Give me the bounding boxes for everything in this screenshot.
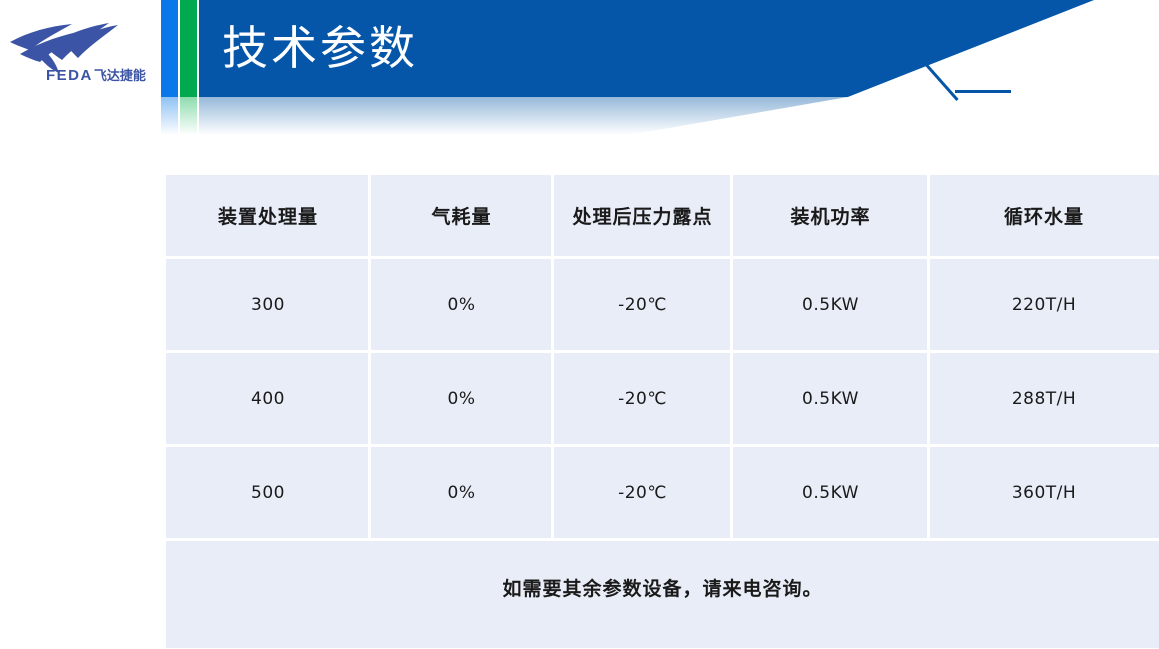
accent-bar-green-reflection [180, 97, 197, 135]
table-header-row: 装置处理量 气耗量 处理后压力露点 装机功率 循环水量 [166, 175, 1159, 256]
logo-wordmark-cn: 飞达捷能 [94, 68, 146, 83]
table-cell-power: 0.5KW [732, 447, 929, 538]
table-cell-capacity: 300 [166, 259, 370, 350]
accent-bar-green [180, 0, 197, 97]
table-cell-water-flow: 288T/H [929, 353, 1159, 444]
table-footer-row: 如需要其余参数设备，请来电咨询。 [166, 541, 1159, 648]
title-banner-reflection [199, 97, 1094, 135]
table-header-cell-1: 气耗量 [370, 175, 553, 256]
table-cell-water-flow: 220T/H [929, 259, 1159, 350]
table-row: 500 0% -20℃ 0.5KW 360T/H [166, 447, 1159, 538]
page-title: 技术参数 [222, 18, 418, 78]
slide-header: FEDA飞达捷能 技术参数 [0, 0, 1159, 135]
table-header-cell-3: 装机功率 [732, 175, 929, 256]
slide-root: FEDA飞达捷能 技术参数 装置处理量 气耗量 处理后压力露点 装机功率 循环水… [0, 0, 1159, 649]
table-row: 300 0% -20℃ 0.5KW 220T/H [166, 259, 1159, 350]
table-header-cell-2: 处理后压力露点 [553, 175, 732, 256]
table-cell-gas-consumption: 0% [370, 259, 553, 350]
logo-wordmark-latin: FEDA [46, 67, 93, 84]
logo-wordmark: FEDA飞达捷能 [46, 65, 146, 84]
table-cell-dew-point: -20℃ [553, 259, 732, 350]
table-cell-capacity: 400 [166, 353, 370, 444]
company-logo: FEDA飞达捷能 [6, 18, 156, 86]
table-cell-dew-point: -20℃ [553, 447, 732, 538]
diagonal-accent-foot [955, 90, 1011, 93]
table-cell-dew-point: -20℃ [553, 353, 732, 444]
accent-bar-blue [161, 0, 178, 97]
table-header-cell-0: 装置处理量 [166, 175, 370, 256]
table-cell-gas-consumption: 0% [370, 353, 553, 444]
table-cell-capacity: 500 [166, 447, 370, 538]
table-cell-power: 0.5KW [732, 353, 929, 444]
table-row: 400 0% -20℃ 0.5KW 288T/H [166, 353, 1159, 444]
table-header-cell-4: 循环水量 [929, 175, 1159, 256]
table-cell-power: 0.5KW [732, 259, 929, 350]
table-cell-gas-consumption: 0% [370, 447, 553, 538]
accent-bar-blue-reflection [161, 97, 178, 135]
contact-note: 如需要其余参数设备，请来电咨询。 [502, 574, 822, 601]
spec-table: 装置处理量 气耗量 处理后压力露点 装机功率 循环水量 300 0% -20℃ … [166, 175, 1159, 649]
table-cell-water-flow: 360T/H [929, 447, 1159, 538]
